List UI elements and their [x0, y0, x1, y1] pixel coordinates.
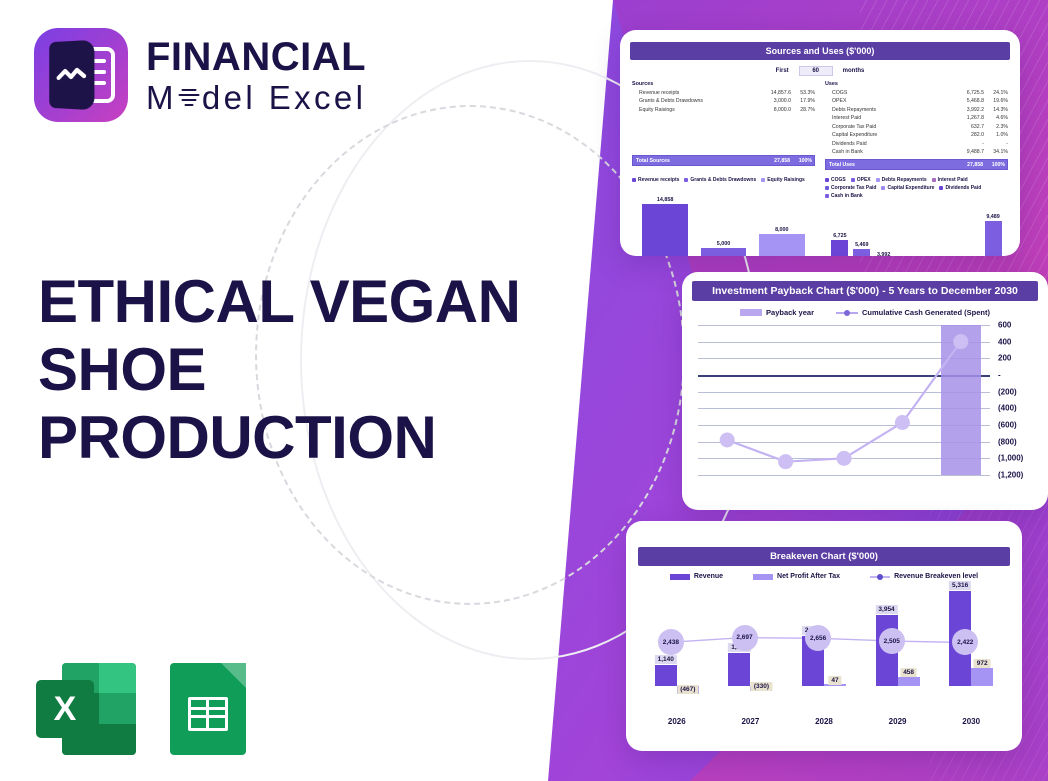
table-row: Capital Expenditure282.01.0%	[825, 131, 1008, 139]
legend-item: Dividends Paid	[939, 185, 981, 191]
bar-column: 3,992	[873, 200, 895, 256]
uses-total-label: Total Uses	[826, 162, 949, 168]
brand-subtitle: M del Excel	[146, 81, 366, 114]
bar-revenue	[655, 665, 677, 685]
breakeven-level-point: 2,656	[805, 625, 831, 651]
legend-item: COGS	[825, 177, 846, 183]
uses-column: Uses COGS6,725.524.1%OPEX5,468.819.6%Deb…	[825, 81, 1008, 170]
legend-swatch	[684, 178, 688, 182]
page-title-line-3: PRODUCTION	[38, 404, 558, 472]
use-row-label: Debts Repayments	[825, 106, 950, 114]
legend-swatch	[932, 178, 936, 182]
y-tick-label: (1,000)	[998, 454, 1023, 463]
bar-column: 6,725	[829, 200, 851, 256]
legend-item: Debts Repayments	[876, 177, 927, 183]
bar-value-label: 8,000	[775, 227, 789, 233]
breakeven-level-point: 2,697	[732, 625, 758, 651]
supported-formats: X	[36, 663, 246, 755]
legend-swatch	[825, 178, 829, 182]
brand-wordmark: FINANCIAL M del Excel	[146, 37, 366, 114]
bar-column: 1,268	[895, 200, 917, 256]
bar-npat-label: (330)	[751, 682, 772, 691]
striped-o-icon	[178, 86, 201, 109]
breakeven-x-axis: 20262027202820292030	[640, 717, 1008, 726]
uses-heading: Uses	[825, 81, 1008, 87]
source-row-label: Revenue receipts	[632, 89, 757, 97]
x-tick-label: 2026	[698, 508, 756, 510]
bar-column: 5,000	[694, 184, 752, 256]
google-sheets-icon	[170, 663, 246, 755]
use-row-pct: -	[984, 140, 1008, 148]
bar-value-label: 5,469	[855, 242, 869, 248]
y-tick-label: (1,200)	[998, 471, 1023, 480]
page-title-line-2: SHOE	[38, 336, 558, 404]
legend-swatch	[851, 178, 855, 182]
legend-label: Revenue	[694, 573, 723, 580]
use-row-pct: 2.3%	[984, 123, 1008, 131]
page-title: ETHICAL VEGAN SHOE PRODUCTION	[38, 268, 558, 471]
legend-item: Payback year	[740, 308, 814, 317]
bar	[853, 249, 870, 256]
microsoft-excel-icon: X	[36, 663, 136, 755]
use-row-value: 632.7	[950, 123, 984, 131]
bar-npat-label: (467)	[677, 685, 698, 694]
sources-uses-title: Sources and Uses ($'000)	[630, 42, 1010, 60]
legend-item: Interest Paid	[932, 177, 968, 183]
brand-logo: FINANCIAL M del Excel	[34, 28, 366, 122]
source-row-value: 14,857.6	[757, 89, 791, 97]
bar-value-label: 3,992	[877, 252, 891, 256]
table-row: COGS6,725.524.1%	[825, 89, 1008, 97]
legend-swatch	[761, 178, 765, 182]
legend-label: COGS	[831, 177, 846, 183]
bar-npat-label: 972	[974, 659, 991, 668]
uses-chart-legend: COGSOPEXDebts RepaymentsInterest PaidCor…	[825, 176, 1008, 200]
bar	[831, 240, 848, 256]
y-tick-label: (400)	[998, 404, 1017, 413]
legend-label: Debts Repayments	[882, 177, 927, 183]
months-input[interactable]: 60	[799, 66, 833, 76]
breakeven-title: Breakeven Chart ($'000)	[638, 547, 1010, 566]
legend-swatch	[632, 178, 636, 182]
data-point	[837, 451, 852, 466]
legend-label: Cumulative Cash Generated (Spent)	[862, 308, 990, 317]
use-row-pct: 34.1%	[984, 148, 1008, 156]
financial-model-excel-logo-icon	[34, 28, 128, 122]
uses-chart-bars: 6,7255,4693,9921,26863328209,489	[825, 200, 1008, 256]
legend-label: Corporate Tax Paid	[831, 185, 876, 191]
legend-label: Payback year	[766, 308, 814, 317]
bar-revenue-label: 1,140	[655, 655, 677, 664]
bar	[701, 248, 746, 256]
sources-total-pct: 100%	[790, 158, 814, 164]
use-row-label: Capital Expenditure	[825, 131, 950, 139]
uses-total-value: 27,858	[949, 162, 983, 168]
legend-swatch	[740, 309, 762, 316]
use-row-value: 1,267.8	[950, 114, 984, 122]
table-row: Dividends Paid--	[825, 140, 1008, 148]
card-investment-payback[interactable]: Investment Payback Chart ($'000) - 5 Yea…	[682, 272, 1048, 510]
bar-npat-label: 47	[828, 676, 841, 685]
brand-subtitle-after: del Excel	[202, 81, 367, 114]
use-row-value: 5,468.8	[950, 97, 984, 105]
legend-label: Grants & Debts Drawdowns	[690, 177, 756, 183]
x-tick-label: 2027	[714, 717, 788, 726]
legend-item: Corporate Tax Paid	[825, 185, 876, 191]
y-tick-label: -	[998, 371, 1001, 380]
use-row-pct: 4.6%	[984, 114, 1008, 122]
bar-revenue	[728, 653, 750, 686]
bar-value-label: 5,000	[717, 241, 731, 247]
bar	[759, 234, 804, 256]
use-row-value: 6,725.5	[950, 89, 984, 97]
bar-column: 282	[938, 200, 960, 256]
source-row-pct: 53.3%	[791, 89, 815, 97]
legend-swatch	[939, 186, 943, 190]
payback-plot: 600400200-(200)(400)(600)(800)(1,000)(1,…	[698, 325, 990, 475]
source-row-pct: 17.9%	[791, 97, 815, 105]
table-row: Cash in Bank9,488.734.1%	[825, 148, 1008, 156]
legend-label: Equity Raisings	[767, 177, 805, 183]
x-tick-label: 2026	[640, 717, 714, 726]
y-tick-label: 400	[998, 337, 1011, 346]
legend-item: Capital Expenditure	[881, 185, 934, 191]
use-row-label: OPEX	[825, 97, 950, 105]
uses-total-pct: 100%	[983, 162, 1007, 168]
bar-column: 9,489	[982, 200, 1004, 256]
sources-spacer	[632, 114, 815, 152]
gridline	[698, 475, 990, 476]
legend-label: Dividends Paid	[945, 185, 981, 191]
legend-item: Net Profit After Tax	[753, 573, 840, 580]
payback-line-series	[698, 325, 990, 475]
table-row: OPEX5,468.819.6%	[825, 97, 1008, 105]
legend-swatch	[670, 574, 690, 580]
legend-item: Grants & Debts Drawdowns	[684, 177, 756, 183]
sources-chart-bars: 14,8585,0008,000	[632, 184, 815, 256]
x-tick-label: 2029	[861, 717, 935, 726]
legend-swatch	[825, 194, 829, 198]
use-row-pct: 24.1%	[984, 89, 1008, 97]
legend-swatch	[876, 178, 880, 182]
legend-label: OPEX	[857, 177, 871, 183]
sources-total-value: 27,858	[756, 158, 790, 164]
bar-column: 0	[960, 200, 982, 256]
brand-title: FINANCIAL	[146, 37, 366, 77]
legend-label: Net Profit After Tax	[777, 573, 840, 580]
y-tick-label: 600	[998, 321, 1011, 330]
x-tick-label: 2028	[815, 508, 873, 510]
sources-column: Sources Revenue receipts14,857.653.3%Gra…	[632, 81, 815, 170]
table-row: Equity Raisings8,000.028.7%	[632, 106, 815, 114]
legend-swatch	[836, 312, 858, 314]
use-row-pct: 1.0%	[984, 131, 1008, 139]
bar-column: 8,000	[753, 184, 811, 256]
legend-swatch	[753, 574, 773, 580]
legend-item: Revenue	[670, 573, 723, 580]
use-row-label: Cash in Bank	[825, 148, 950, 156]
bar	[985, 221, 1002, 256]
legend-item: Cumulative Cash Generated (Spent)	[836, 308, 990, 317]
bar-revenue-label: 5,316	[949, 581, 971, 590]
brand-subtitle-before: M	[146, 81, 177, 114]
bar-npat-label: 458	[900, 668, 917, 677]
legend-swatch	[870, 576, 890, 578]
source-row-label: Equity Raisings	[632, 106, 757, 114]
table-row: Interest Paid1,267.84.6%	[825, 114, 1008, 122]
breakeven-legend: RevenueNet Profit After TaxRevenue Break…	[626, 573, 1022, 580]
y-tick-label: (200)	[998, 387, 1017, 396]
y-tick-label: (800)	[998, 437, 1017, 446]
bar-value-label: 9,489	[986, 214, 1000, 220]
use-row-value: 9,488.7	[950, 148, 984, 156]
page-title-line-1: ETHICAL VEGAN	[38, 268, 558, 336]
logo-chart-line-icon	[57, 67, 86, 83]
sources-total-row: Total Sources 27,858 100%	[632, 155, 815, 166]
uses-chart: COGSOPEXDebts RepaymentsInterest PaidCor…	[825, 176, 1008, 256]
card-breakeven[interactable]: Breakeven Chart ($'000) RevenueNet Profi…	[626, 521, 1022, 751]
sources-heading: Sources	[632, 81, 815, 87]
sources-chart-legend: Revenue receiptsGrants & Debts Drawdowns…	[632, 176, 815, 184]
y-tick-label: 200	[998, 354, 1011, 363]
legend-label: Capital Expenditure	[887, 185, 934, 191]
bar-column: 5,469	[851, 200, 873, 256]
data-point	[895, 415, 910, 430]
source-row-label: Grants & Debts Drawdowns	[632, 97, 757, 105]
bar-revenue-label: 3,954	[875, 605, 897, 614]
payback-x-axis: 20262027202820292030	[698, 508, 990, 510]
table-row: Debts Repayments3,992.214.3%	[825, 106, 1008, 114]
use-row-pct: 14.3%	[984, 106, 1008, 114]
sheets-grid-glyph	[188, 697, 228, 731]
use-row-label: Corporate Tax Paid	[825, 123, 950, 131]
breakeven-level-point: 2,438	[658, 629, 684, 655]
legend-swatch	[825, 186, 829, 190]
table-row: Grants & Debts Drawdowns3,000.017.9%	[632, 97, 815, 105]
legend-label: Cash in Bank	[831, 193, 863, 199]
use-row-value: 282.0	[950, 131, 984, 139]
x-tick-label: 2027	[756, 508, 814, 510]
sources-total-label: Total Sources	[633, 158, 756, 164]
use-row-pct: 19.6%	[984, 97, 1008, 105]
bar-npat	[971, 668, 993, 685]
bar-value-label: 14,858	[657, 197, 674, 203]
sources-chart: Revenue receiptsGrants & Debts Drawdowns…	[632, 176, 815, 256]
legend-label: Revenue receipts	[638, 177, 679, 183]
breakeven-level-point: 2,422	[952, 629, 978, 655]
sources-uses-table: Sources Revenue receipts14,857.653.3%Gra…	[620, 76, 1020, 170]
table-row: Revenue receipts14,857.653.3%	[632, 89, 815, 97]
use-row-value: 3,992.2	[950, 106, 984, 114]
months-suffix-label: months	[843, 68, 865, 74]
bar-value-label: 6,725	[833, 233, 847, 239]
months-prefix-label: First	[776, 68, 789, 74]
legend-item: Cash in Bank	[825, 193, 863, 199]
legend-item: Equity Raisings	[761, 177, 805, 183]
use-row-label: COGS	[825, 89, 950, 97]
x-tick-label: 2029	[873, 508, 931, 510]
legend-swatch	[881, 186, 885, 190]
use-row-label: Dividends Paid	[825, 140, 950, 148]
data-point	[720, 433, 735, 448]
x-tick-label: 2028	[787, 717, 861, 726]
payback-title: Investment Payback Chart ($'000) - 5 Yea…	[692, 281, 1038, 301]
y-tick-label: (600)	[998, 421, 1017, 430]
data-point	[953, 334, 968, 349]
data-point	[778, 454, 793, 469]
excel-x-glyph: X	[36, 680, 94, 738]
breakeven-level-point: 2,505	[879, 628, 905, 654]
payback-legend: Payback yearCumulative Cash Generated (S…	[682, 308, 1048, 317]
bar	[642, 204, 687, 256]
legend-label: Interest Paid	[938, 177, 968, 183]
table-row: Corporate Tax Paid632.72.3%	[825, 123, 1008, 131]
uses-total-row: Total Uses 27,858 100%	[825, 159, 1008, 170]
card-sources-and-uses[interactable]: Sources and Uses ($'000) First 60 months…	[620, 30, 1020, 256]
x-tick-label: 2030	[932, 508, 990, 510]
legend-label: Revenue Breakeven level	[894, 573, 978, 580]
legend-item: Revenue receipts	[632, 177, 679, 183]
use-row-value: -	[950, 140, 984, 148]
use-row-label: Interest Paid	[825, 114, 950, 122]
logo-card-shape	[49, 40, 94, 111]
bar-column: 633	[917, 200, 939, 256]
breakeven-plot: 1,140(467)2,4381,848(330)2,6972,814472,6…	[640, 586, 1008, 698]
months-control[interactable]: First 60 months	[620, 66, 1020, 76]
sources-uses-charts: Revenue receiptsGrants & Debts Drawdowns…	[620, 170, 1020, 256]
legend-item: OPEX	[851, 177, 871, 183]
bar-npat	[898, 677, 920, 685]
source-row-value: 8,000.0	[757, 106, 791, 114]
source-row-value: 3,000.0	[757, 97, 791, 105]
x-tick-label: 2030	[934, 717, 1008, 726]
bar-column: 14,858	[636, 184, 694, 256]
source-row-pct: 28.7%	[791, 106, 815, 114]
legend-item: Revenue Breakeven level	[870, 573, 978, 580]
